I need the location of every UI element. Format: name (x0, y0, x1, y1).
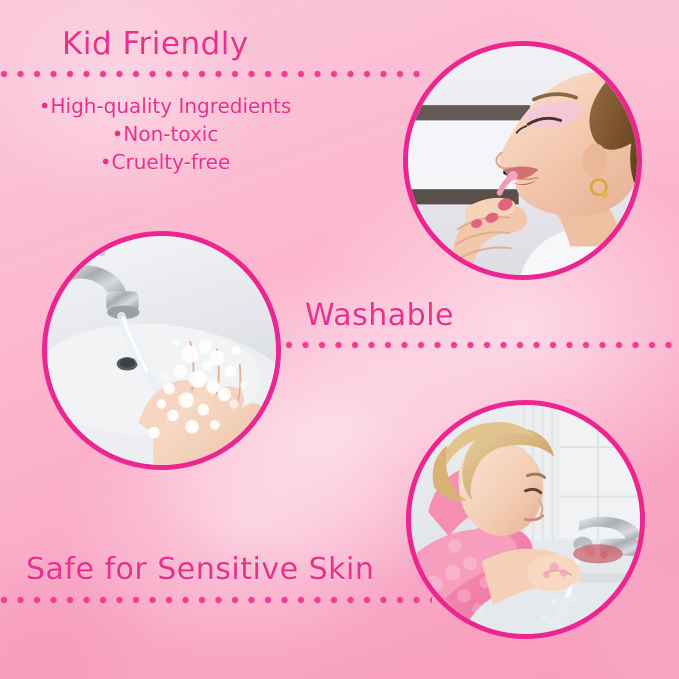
heading-washable: Washable (305, 298, 454, 333)
heading-safe-for-sensitive-skin: Safe for Sensitive Skin (26, 552, 374, 587)
list-item: •Non-toxic (0, 120, 330, 148)
divider-dots-bottom (0, 596, 432, 604)
photo-girl-applying-lip-gloss (403, 41, 642, 280)
photo-soapy-hands-under-faucet (42, 231, 281, 470)
photo-image-lip-gloss (408, 46, 637, 275)
feature-bullet-list: •High-quality Ingredients •Non-toxic •Cr… (0, 92, 330, 176)
divider-dots-top (0, 70, 422, 78)
heading-kid-friendly: Kid Friendly (62, 26, 249, 62)
photo-girl-in-pink-robe-washing-hands (406, 400, 645, 639)
divider-dots-middle (285, 341, 679, 349)
list-item: •High-quality Ingredients (0, 92, 330, 120)
photo-image-girl-sink (411, 405, 640, 634)
photo-image-handwash (47, 236, 276, 465)
product-feature-infographic: Kid Friendly •High-quality Ingredients •… (0, 0, 679, 679)
list-item: •Cruelty-free (0, 148, 330, 176)
